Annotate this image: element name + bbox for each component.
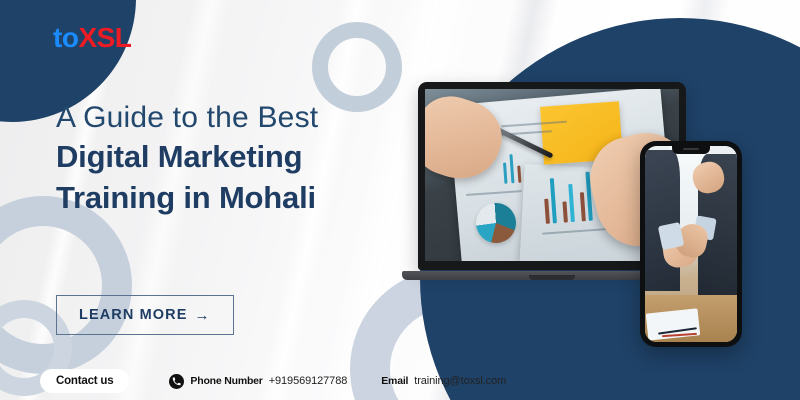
phone-screen: Smartphone showing business professional… xyxy=(645,146,737,342)
toxsl-logo[interactable]: toXSL xyxy=(53,24,131,52)
headline-line-1: A Guide to the Best xyxy=(56,100,318,137)
learn-more-button[interactable]: LEARN MORE → xyxy=(56,295,234,335)
photo-shirt-cuff-left xyxy=(658,222,684,250)
photo-bar xyxy=(517,165,521,182)
photo-bar xyxy=(544,199,550,224)
email-value: training@toxsl.com xyxy=(414,375,506,387)
photo-bar xyxy=(580,192,586,221)
headline-line-3: Training in Mohali xyxy=(56,178,318,219)
photo-bar xyxy=(568,185,575,222)
arrow-right-icon: → xyxy=(194,308,210,323)
phone-contact-group[interactable]: Phone Number +919569127788 xyxy=(169,374,347,389)
photo-bar xyxy=(550,179,557,224)
logo-text-x: X xyxy=(78,22,96,53)
photo-bar xyxy=(562,201,567,222)
contact-us-pill[interactable]: Contact us xyxy=(40,369,129,393)
phone-icon xyxy=(169,374,184,389)
photo-bar xyxy=(510,154,515,183)
email-label: Email xyxy=(381,375,408,387)
phone-mockup: Smartphone showing business professional… xyxy=(640,141,742,347)
phone-speaker xyxy=(683,148,699,150)
contact-bar: Contact us Phone Number +919569127788 Em… xyxy=(0,362,800,400)
email-contact-group[interactable]: Email training@toxsl.com xyxy=(381,375,506,387)
photo-suit-left xyxy=(645,150,680,291)
marketing-banner: Laptop showing hands reviewing marketing… xyxy=(0,0,800,400)
headline-line-2: Digital Marketing xyxy=(56,137,318,178)
phone-number-value: +919569127788 xyxy=(269,375,348,387)
phone-number-label: Phone Number xyxy=(190,375,262,387)
decorative-ring-top xyxy=(312,22,402,112)
headline-block: A Guide to the Best Digital Marketing Tr… xyxy=(56,100,318,218)
learn-more-label: LEARN MORE xyxy=(79,307,187,323)
logo-text-to: to xyxy=(53,22,78,53)
logo-text-sl: SL xyxy=(97,22,132,53)
laptop-hinge-notch xyxy=(529,275,575,280)
photo-bar xyxy=(503,162,507,184)
